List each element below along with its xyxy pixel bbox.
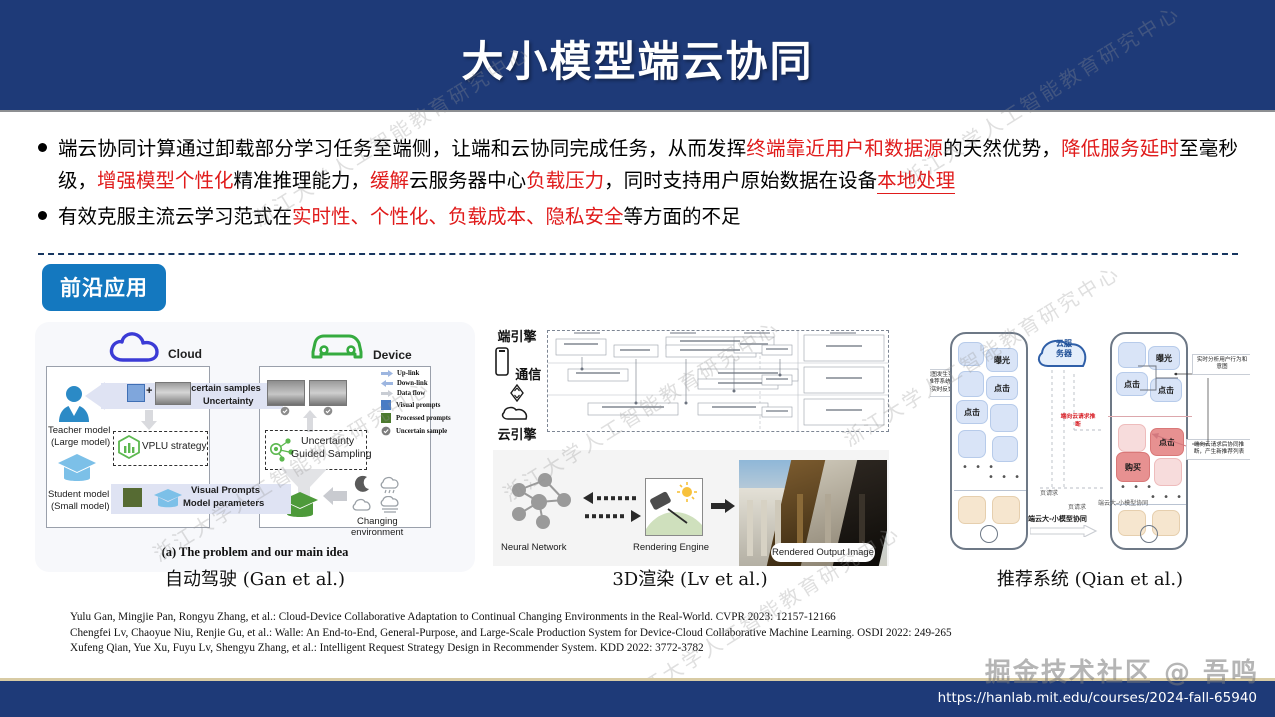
tile-purchase-label: 购买: [1116, 452, 1150, 482]
sample-thumbnail: [309, 380, 347, 406]
ellipsis: • • •: [988, 472, 1022, 483]
tile-product: [958, 496, 986, 524]
engine-side-labels: 端引擎 通信 云引擎: [487, 326, 547, 443]
downlink-text-2: Model parameters: [183, 498, 264, 509]
architecture-grid: [547, 330, 889, 432]
tile-exposure-label: 曝光: [986, 348, 1018, 372]
tile-label: 曝光: [987, 349, 1017, 371]
tile-product: [958, 430, 986, 458]
arrow-right-icon: [381, 370, 393, 377]
arrow-left-icon: [381, 380, 393, 387]
weather-fog-icon: [379, 496, 401, 514]
cloud-server-label: 云服 务器: [1042, 339, 1086, 359]
uplink-text-2: Uncertainty: [203, 396, 254, 406]
processed-prompt-swatch: [123, 488, 142, 507]
phone-before: 曝光 点击 点击 • • • • • •: [950, 332, 1028, 550]
rendering-engine-box: [645, 478, 703, 536]
figure-recommender-system: 用户意图发生变化，而推荐系统无法进行实时反馈 曝光 点击 点击: [930, 322, 1250, 572]
tile-label: 点击: [987, 377, 1017, 399]
teacher-icon: [57, 384, 91, 424]
arrow-right-icon: [381, 390, 393, 397]
vplu-strategy-label: VPLU strategy: [142, 441, 206, 452]
architecture-diagram: 端引擎 通信 云引擎: [485, 322, 895, 440]
down-arrow-icon: [141, 410, 157, 430]
up-arrow-icon: [303, 410, 317, 432]
caption-autonomous-driving: 自动驾驶 (Gan et al.): [35, 565, 475, 591]
page-title: 大小模型端云协同: [0, 28, 1275, 89]
teacher-model-sublabel: (Large model): [51, 437, 110, 448]
weather-cloud-icon: [351, 496, 373, 514]
caption-recommender-system: 推荐系统 (Qian et al.): [930, 565, 1250, 591]
tile-product: [992, 496, 1020, 524]
dotted-arrows-icon: [583, 492, 641, 522]
teacher-model-label: Teacher model: [48, 425, 110, 436]
bidirectional-diamond-icon: [508, 384, 526, 402]
watermark-brand: 掘金技术社区 @ 吾鸣: [985, 652, 1259, 689]
car-icon: [307, 326, 369, 369]
tile-product: [992, 436, 1018, 462]
legend-item: Down-link: [381, 380, 469, 387]
uncertain-sample-icon: [323, 406, 333, 416]
tile-product: [958, 371, 984, 397]
reference-list: Yulu Gan, Mingjie Pan, Rongyu Zhang, et …: [70, 610, 1220, 657]
tile-click-label: 点击: [956, 400, 988, 424]
student-model-sublabel: (Small model): [51, 501, 110, 512]
collaboration-label: 端云大-小模型协同: [1098, 498, 1148, 507]
device-engine-label: 端引擎: [487, 326, 547, 345]
cloud-engine-label: 云引擎: [487, 424, 547, 443]
request-inference-label: 端向云请求推断: [1058, 414, 1098, 429]
communication-label: 通信: [515, 364, 541, 383]
figure-subcaption: (a) The problem and our main idea: [35, 545, 475, 560]
green-square-icon: [381, 413, 391, 423]
neural-network-label: Neural Network: [501, 542, 566, 553]
student-model-label: Student model: [48, 489, 109, 500]
legend-item: Processed prompts: [381, 413, 469, 423]
weather-rain-icon: [379, 474, 401, 494]
graduation-cap-icon: [153, 487, 183, 511]
device-label: Device: [373, 348, 412, 362]
cloud-connectors: [1030, 370, 1110, 500]
figure-3d-rendering: 端引擎 通信 云引擎: [485, 322, 895, 572]
figure-strip: Cloud Device Uncertain samples Uncertain…: [0, 322, 1275, 572]
tile-product: [958, 342, 984, 366]
vplu-hexagon-icon: [117, 435, 141, 459]
figure-legend: Up-link Down-link Data flow Visual promp…: [381, 370, 469, 439]
legend-item: Up-link: [381, 370, 469, 377]
figure-autonomous-driving: Cloud Device Uncertain samples Uncertain…: [35, 322, 475, 572]
neural-network-icon: [507, 468, 577, 532]
environment-label-1: Changing: [357, 516, 398, 527]
bullet-text-2: 有效克服主流云学习范式在实时性、个性化、负载成本、隐私安全等方面的不足: [58, 201, 741, 233]
plus-sign: +: [146, 385, 152, 397]
page-request-label: 页请求: [1040, 488, 1058, 497]
figure-captions: 自动驾驶 (Gan et al.) 3D渲染 (Lv et al.) 推荐系统 …: [0, 565, 1275, 597]
ugs-label-1: Uncertainty: [301, 435, 354, 447]
rendered-output-label: Rendered Output Image: [772, 547, 874, 558]
uncertain-sample-icon: [280, 406, 290, 416]
section-divider: [38, 253, 1238, 255]
uplink-text-1: Uncertain samples: [179, 383, 261, 393]
circle-check-icon: [381, 426, 391, 436]
collaboration-label: 端云大-小模型协同: [1028, 514, 1087, 524]
section-badge: 前沿应用: [42, 264, 166, 311]
pointer-line: [1130, 428, 1188, 452]
bracket-connector: [1138, 358, 1182, 398]
left-arrow-icon: [323, 485, 347, 507]
cloud-label: Cloud: [168, 347, 202, 361]
architecture-grid-svg: [548, 331, 888, 431]
sample-thumbnail: [155, 382, 191, 405]
reference-item: Yulu Gan, Mingjie Pan, Rongyu Zhang, et …: [70, 610, 1220, 626]
weather-moon-icon: [353, 474, 373, 494]
legend-item: Uncertain sample: [381, 426, 469, 436]
ugs-label-2: Guided Sampling: [291, 448, 372, 460]
cloud-icon: [107, 330, 163, 369]
tile-product: [990, 404, 1018, 432]
bullet-list: 端云协同计算通过卸载部分学习任务至端侧，让端和云协同完成任务，从而发挥终端靠近用…: [38, 133, 1238, 237]
tile-label: 购买: [1117, 453, 1149, 481]
title-banner: 大小模型端云协同: [0, 0, 1275, 112]
bullet-text-1: 端云协同计算通过卸载部分学习任务至端侧，让端和云协同完成任务，从而发挥终端靠近用…: [58, 133, 1238, 197]
bullet-dot-icon: [38, 211, 47, 220]
sample-thumbnail: [267, 380, 305, 406]
tile-click-label: 点击: [986, 376, 1018, 400]
home-button-icon: [980, 525, 998, 543]
arrow-right-icon: [711, 498, 735, 514]
rendered-output-image: Rendered Output Image: [739, 460, 887, 566]
phone-icon: [493, 347, 511, 377]
tile-label: 点击: [957, 401, 987, 423]
tile-product: [1154, 458, 1182, 486]
home-button-icon: [1140, 525, 1158, 543]
blue-square-icon: [381, 400, 391, 410]
ellipsis: • • •: [1150, 492, 1184, 503]
footer-url: https://hanlab.mit.edu/courses/2024-fall…: [938, 690, 1257, 706]
rendering-pipeline: Neural Network Renderin: [493, 450, 889, 566]
visual-prompt-swatch: [127, 384, 145, 402]
cloud-icon: [500, 404, 534, 422]
ellipsis: • • •: [1120, 482, 1154, 493]
caption-3d-rendering: 3D渲染 (Lv et al.): [485, 565, 895, 591]
arrow-right-icon: [1030, 525, 1098, 537]
slide-root: 大小模型端云协同 端云协同计算通过卸载部分学习任务至端侧，让端和云协同完成任务，…: [0, 0, 1275, 717]
rendering-engine-label: Rendering Engine: [633, 542, 709, 553]
list-item: 端云协同计算通过卸载部分学习任务至端侧，让端和云协同完成任务，从而发挥终端靠近用…: [38, 133, 1238, 197]
bullet-dot-icon: [38, 143, 47, 152]
legend-item: Visual prompts: [381, 400, 469, 410]
graduation-cap-icon: [57, 452, 97, 486]
downlink-text-1: Visual Prompts: [191, 485, 260, 496]
reference-item: Chengfei Lv, Chaoyue Niu, Renjie Gu, et …: [70, 626, 1220, 642]
list-item: 有效克服主流云学习范式在实时性、个性化、负载成本、隐私安全等方面的不足: [38, 201, 1238, 233]
environment-label-2: environment: [351, 527, 403, 538]
page-request-label: 页请求: [1068, 502, 1086, 511]
legend-item: Data flow: [381, 390, 469, 397]
